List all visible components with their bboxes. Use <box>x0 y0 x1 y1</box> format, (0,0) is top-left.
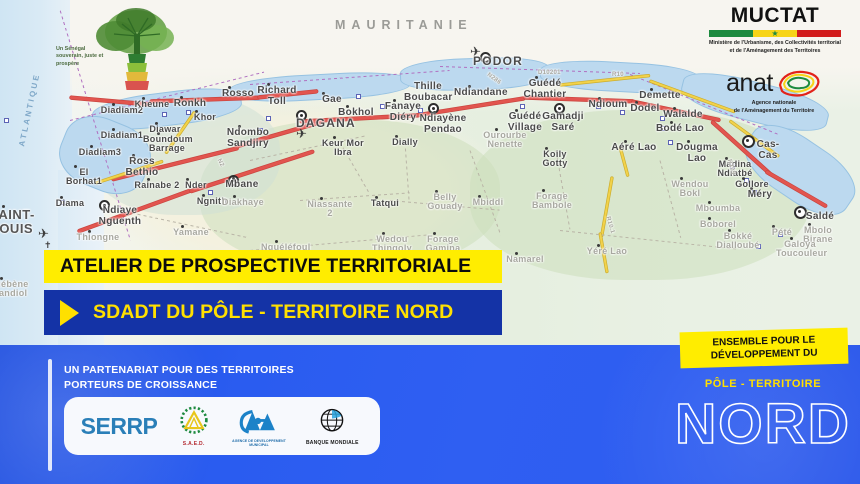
map-label: Yéré Lao <box>583 247 631 256</box>
map-label: Namarel <box>501 255 549 264</box>
saed-caption: S.A.E.D. <box>171 441 217 447</box>
map-label: Pété <box>758 228 806 237</box>
world-bank-caption: BANQUE MONDIALE <box>301 440 363 446</box>
map-label: Ndiaye Nguenth <box>96 206 144 227</box>
map-label: Boundoum Barrage <box>143 135 191 154</box>
pole-territoire-label: PÔLE - TERRITOIRE <box>668 378 858 390</box>
map-label: Demette <box>636 91 684 102</box>
map-label: Dially <box>381 138 429 147</box>
map-label: Koily Gotty <box>531 150 579 169</box>
partner-logos-card: SERRP S.A.E.D. AGENCE DE DEVELOPPEMEN <box>64 397 380 455</box>
map-label: Mboumba <box>694 204 742 213</box>
map-label: Keur Mor Ibra <box>319 139 367 158</box>
map-label: Boborel <box>694 220 742 229</box>
map-label: Gae <box>308 95 356 106</box>
map-label: Bokhol <box>332 108 380 119</box>
map-label: Thiongne <box>74 233 122 242</box>
nord-wordmark: NORD <box>668 396 858 453</box>
map-label: Yamane <box>167 228 215 237</box>
road-shield-d10201: D10201 <box>538 70 561 76</box>
map-label: DAGANA <box>296 117 344 130</box>
map-label: Kheune <box>128 100 176 109</box>
subtitle-bar: SDADT DU PÔLE - TERRITOIRE NORD <box>44 290 502 335</box>
muctat-logo: MUCTAT ★ Ministère de l'Urbanisme, des C… <box>700 4 850 55</box>
map-label: Bokké Dialloubé <box>714 232 762 251</box>
map-label: Khor <box>181 113 229 122</box>
vertical-divider <box>48 359 52 471</box>
senegal-flag-icon: ★ <box>709 30 841 37</box>
map-label: Ndiandane <box>454 88 502 99</box>
town-marker <box>356 94 361 99</box>
serrp-logo: SERRP <box>81 413 158 440</box>
workshop-title: ATELIER DE PROSPECTIVE TERRITORIALE <box>60 255 471 278</box>
map-label: SAINT- LOUIS <box>0 208 36 235</box>
map-label: Cas- Cas <box>744 140 792 161</box>
tree-logo-motto: Un Sénégal souverain, juste et prospère <box>56 46 108 68</box>
map-label: Aéré Lao <box>610 143 658 154</box>
town-marker <box>162 112 167 117</box>
saed-logo: S.A.E.D. <box>171 406 217 447</box>
map-label: Ross Bethio <box>118 157 166 178</box>
map-label: Diébène Sandiol <box>0 280 34 299</box>
map-label: El Borhat1 <box>60 168 108 187</box>
map-label: Diama <box>46 199 94 208</box>
map-label: PODOR <box>473 55 521 68</box>
muctat-name: MUCTAT <box>700 4 850 28</box>
flag-star-icon: ★ <box>771 30 778 38</box>
map-label: Saldé <box>796 212 844 223</box>
anat-subtitle: Agence nationale de l'Aménagement du Ter… <box>704 100 844 116</box>
map-label: Mbane <box>218 180 266 191</box>
map-label: Richard Toll <box>253 86 301 107</box>
play-triangle-icon <box>60 300 79 326</box>
town-marker <box>520 104 525 109</box>
map-label: Diakhaye <box>219 198 267 207</box>
map-label: Bodé Lao <box>656 124 704 135</box>
map-label: Madina Ndiatbé <box>711 160 759 179</box>
poster-root: ATLANTIQUE MAURITANIE <box>0 0 860 484</box>
town-marker <box>4 118 9 123</box>
town-marker <box>208 190 213 195</box>
map-label: Ndombo Sandjiry <box>224 128 272 149</box>
map-label: Wendou Bokl <box>666 180 714 199</box>
map-label: Ourourbe Nenette <box>481 131 529 150</box>
world-bank-logo: BANQUE MONDIALE <box>301 407 363 446</box>
town-marker <box>266 116 271 121</box>
map-label: Thille Boubacar <box>404 82 452 103</box>
subtitle-text: SDADT DU PÔLE - TERRITOIRE NORD <box>93 301 453 324</box>
map-label: Nder <box>172 181 220 190</box>
adm-logo: AGENCE DE DEVELOPPEMENT MUNICIPAL <box>230 406 288 447</box>
map-label: Forage Bambole <box>528 192 576 211</box>
road-shield-r10: R10 <box>612 72 624 78</box>
anat-logo: anat Agence nationale de l'Aménagement d… <box>704 68 844 116</box>
map-label: Walalde <box>659 110 707 121</box>
map-label: Niassante 2 <box>306 200 354 219</box>
map-label: Galoya Toucouleur <box>776 240 824 259</box>
workshop-title-bar: ATELIER DE PROSPECTIVE TERRITORIALE <box>44 250 502 283</box>
anat-name: anat <box>726 72 773 95</box>
map-label: Diadiam3 <box>76 148 124 157</box>
senegal-tree-logo: Un Sénégal souverain, juste et prospère <box>56 2 180 90</box>
map-label: Diadiam1 <box>98 131 146 140</box>
map-label: Ndiayène Pendao <box>419 114 467 135</box>
map-label: Belly Gouady <box>421 193 469 212</box>
map-label: Tatqui <box>361 199 409 208</box>
ensemble-text: ENSEMBLE POUR LE DÉVELOPPEMENT DU <box>710 333 817 363</box>
partnership-text: UN PARTENARIAT POUR DES TERRITOIRES PORT… <box>64 363 294 393</box>
muctat-subtitle: Ministère de l'Urbanisme, des Collectivi… <box>700 40 850 55</box>
adm-caption: AGENCE DE DEVELOPPEMENT MUNICIPAL <box>230 439 288 447</box>
senegal-outline-icon <box>776 68 822 98</box>
map-label: Méry <box>736 190 784 201</box>
map-label: Guédé Chantier <box>521 79 569 100</box>
map-label: Mbiddi <box>464 198 512 207</box>
ensemble-badge: ENSEMBLE POUR LE DÉVELOPPEMENT DU <box>680 328 849 369</box>
country-label-mauritanie: MAURITANIE <box>335 18 473 32</box>
